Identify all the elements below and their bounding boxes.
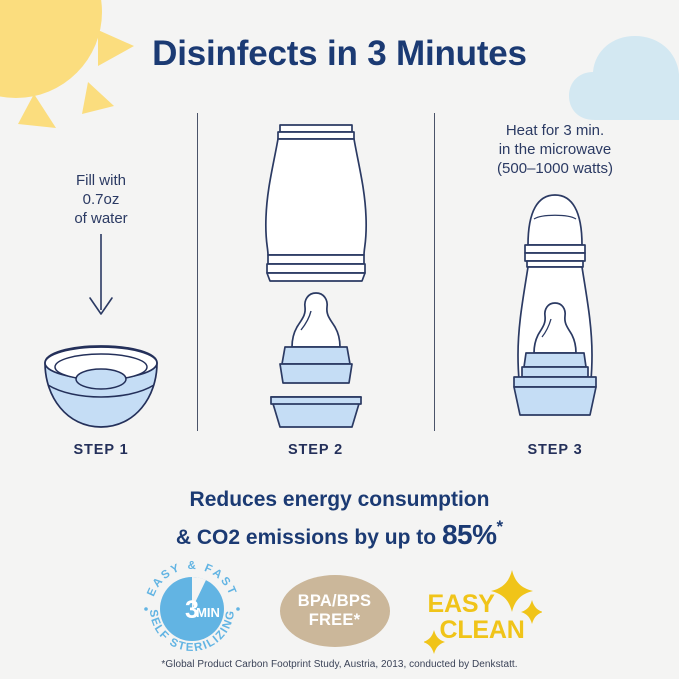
eco-claim-line-1: Reduces energy consumption xyxy=(0,485,679,515)
disassembled-bottle-icon xyxy=(198,115,433,430)
step-1-caption-line-3: of water xyxy=(6,209,196,228)
step-1-label: STEP 1 xyxy=(6,442,196,458)
badge-3min: 3 MIN EASY & FAST SELF STERILIZING xyxy=(138,555,246,668)
badge-easy-clean-line-1: EASY xyxy=(428,590,495,618)
infographic-page: Disinfects in 3 Minutes Fill with 0.7oz … xyxy=(0,0,679,679)
eco-percent: 85% xyxy=(442,519,497,550)
badge-easy-clean: EASY CLEAN xyxy=(424,568,542,654)
step-3-caption: Heat for 3 min. in the microwave (500–10… xyxy=(435,121,675,179)
step-3-column: Heat for 3 min. in the microwave (500–10… xyxy=(435,113,675,458)
step-1-caption: Fill with 0.7oz of water xyxy=(6,171,196,229)
badge-bpa-line-2: FREE* xyxy=(309,611,360,630)
step-1-caption-line-2: 0.7oz xyxy=(6,190,196,209)
step-3-caption-line-1: Heat for 3 min. xyxy=(435,121,675,140)
badge-row: 3 MIN EASY & FAST SELF STERILIZING BPA/B… xyxy=(0,563,679,659)
badge-bpa-free: BPA/BPS FREE* xyxy=(280,575,390,647)
down-arrow-icon xyxy=(6,234,196,320)
step-2-column: STEP 2 xyxy=(198,113,433,458)
badge-easy-clean-line-2: CLEAN xyxy=(428,618,525,644)
page-title: Disinfects in 3 Minutes xyxy=(0,34,679,74)
step-3-caption-line-2: in the microwave xyxy=(435,140,675,159)
badge-3min-unit: MIN xyxy=(196,605,220,620)
eco-claim: Reduces energy consumption & CO2 emissio… xyxy=(0,485,679,555)
step-1-caption-line-1: Fill with xyxy=(6,171,196,190)
step-1-column: Fill with 0.7oz of water STEP 1 xyxy=(6,113,196,458)
footnote: *Global Product Carbon Footprint Study, … xyxy=(0,659,679,670)
step-3-label: STEP 3 xyxy=(435,442,675,458)
water-bowl-icon xyxy=(6,341,196,433)
eco-claim-prefix: & CO2 emissions by up to xyxy=(176,526,442,549)
badge-bpa-line-1: BPA/BPS xyxy=(298,592,372,611)
eco-claim-line-2: & CO2 emissions by up to 85%* xyxy=(0,515,679,555)
step-3-caption-line-3: (500–1000 watts) xyxy=(435,159,675,178)
step-2-label: STEP 2 xyxy=(198,442,433,458)
assembled-bottle-icon xyxy=(435,187,675,437)
eco-asterisk: * xyxy=(496,517,503,536)
